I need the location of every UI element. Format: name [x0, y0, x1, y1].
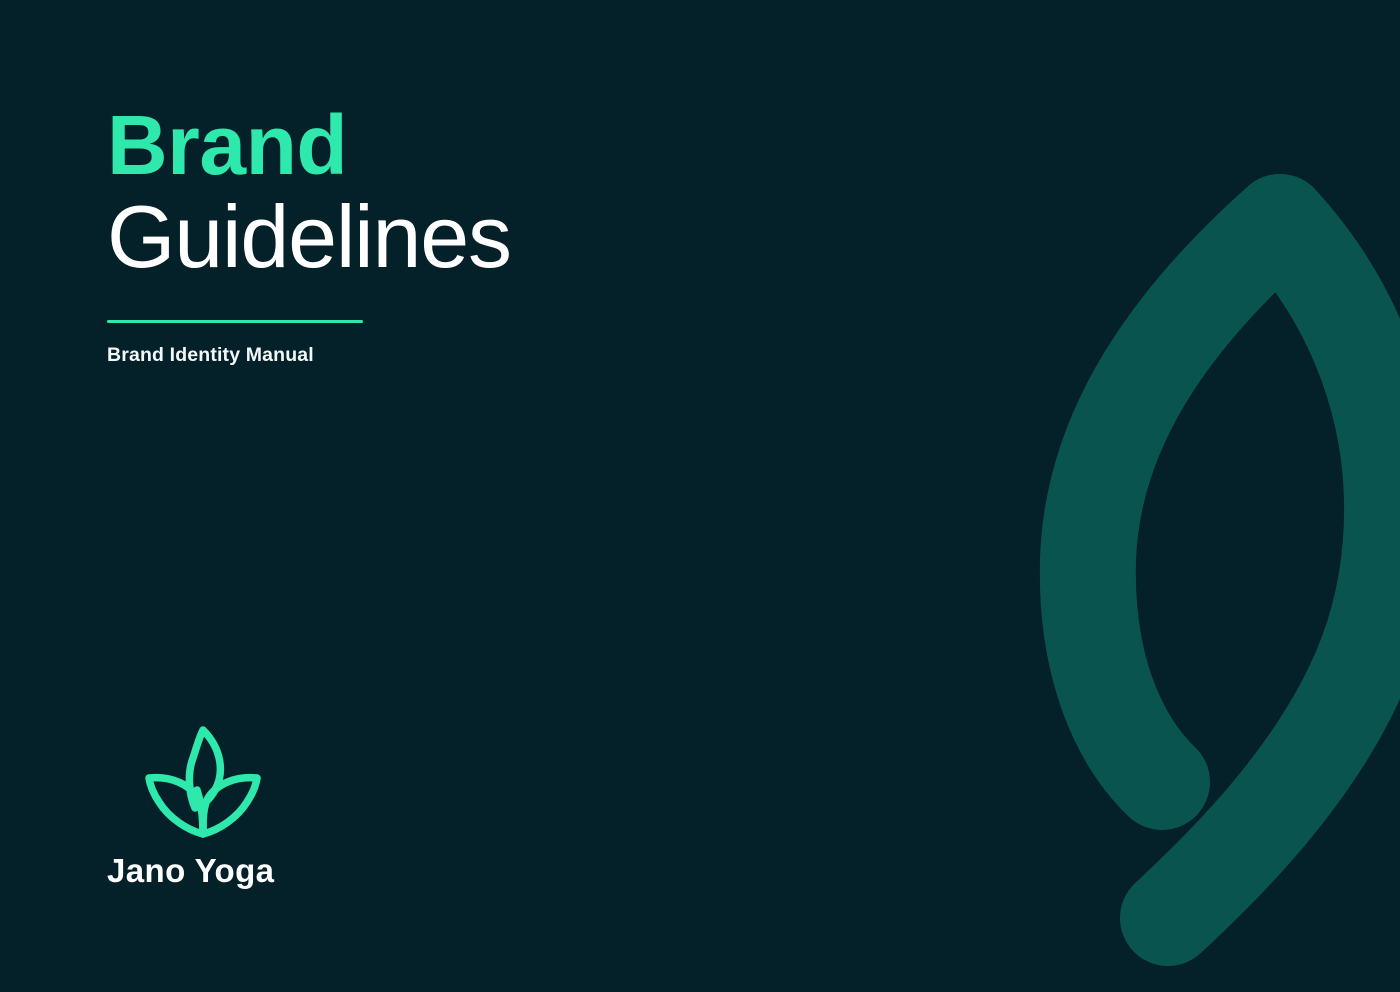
brand-guidelines-cover: Brand Guidelines Brand Identity Manual J…	[0, 0, 1400, 992]
page-title-main: Guidelines	[107, 192, 867, 282]
large-leaf-outline-graphic	[980, 0, 1400, 992]
logo-lockup: Jano Yoga	[107, 722, 407, 890]
page-title-accent: Brand	[107, 104, 867, 186]
decorative-graphic-layer	[980, 0, 1400, 992]
sprout-leaf-logo-icon	[141, 722, 265, 840]
page-subtitle: Brand Identity Manual	[107, 344, 867, 367]
title-divider-rule	[107, 320, 363, 323]
logo-wordmark: Jano Yoga	[107, 852, 407, 890]
title-block: Brand Guidelines Brand Identity Manual	[107, 104, 867, 367]
